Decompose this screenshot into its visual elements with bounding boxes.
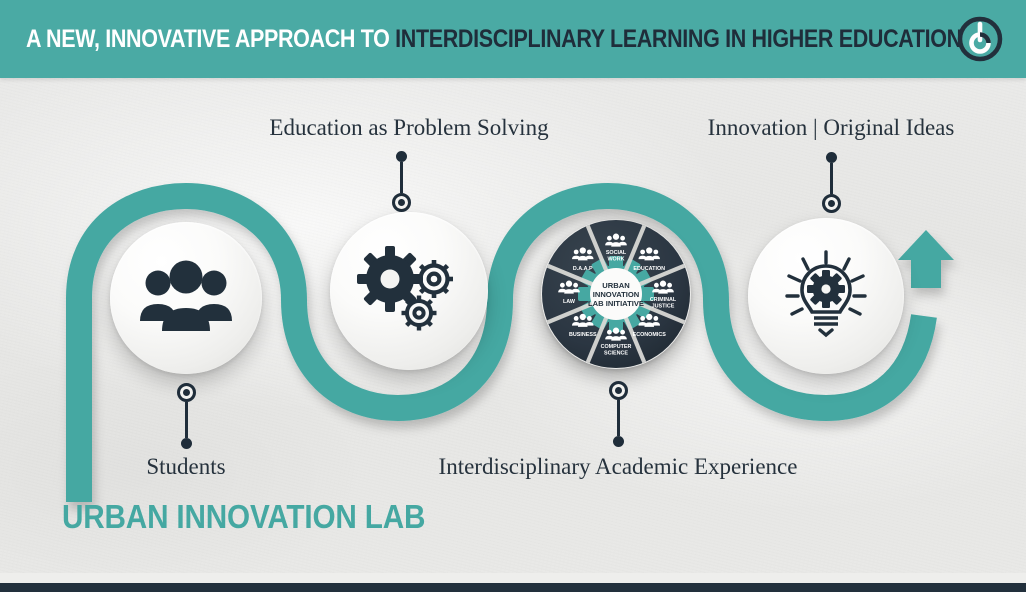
connector-wheel [609,381,628,447]
wheel-center-line: LAB INITIATIVE [588,299,644,308]
wheel-segment-label: EDUCATION [633,266,665,272]
wheel-segment-label: SOCIAL [606,250,627,256]
wheel-center-line: URBAN [602,281,629,290]
node-students[interactable] [110,222,262,374]
page-title: A NEW, INNOVATIVE APPROACH TO INTERDISCI… [26,27,962,52]
wheel-segment-label: D.A.A.P [573,266,593,272]
header-bar: A NEW, INNOVATIVE APPROACH TO INTERDISCI… [0,0,1026,78]
connector-innovation [822,152,841,213]
wheel-segment-label: ECONOMICS [633,332,667,338]
caption-education: Education as Problem Solving [209,115,609,141]
connector-line [400,162,403,193]
connector-ring [609,381,628,400]
connector-dot [613,436,624,447]
caption-students: Students [110,454,262,480]
connector-line [830,163,833,194]
connector-students [177,383,196,449]
page-title-dark: INTERDISCIPLINARY LEARNING IN HIGHER EDU… [395,25,962,53]
footer-wordmark: URBAN INNOVATION LAB [62,498,425,536]
footer-divider [0,573,1026,583]
connector-ring [822,194,841,213]
wheel-center-line: INNOVATION [593,290,640,299]
connector-ring [177,383,196,402]
wheel-segment-label: COMPUTER [601,344,632,350]
wheel-segment-label: LAW [563,299,576,305]
page-title-light: A NEW, INNOVATIVE APPROACH TO [26,25,395,53]
caption-wheel: Interdisciplinary Academic Experience [418,454,818,480]
lightbulb-gear-icon [776,248,876,344]
wheel-segment-label: SCIENCE [604,350,628,356]
wheel-segment-label: WORK [607,256,624,262]
brand-b-logo[interactable] [956,15,1004,63]
infographic-canvas: SOCIALWORKEDUCATIONCRIMINALJUSTICEECONOM… [0,0,1026,592]
node-innovation-original-ideas[interactable] [748,218,904,374]
connector-dot [396,151,407,162]
people-group-icon [136,259,236,337]
connector-dot [826,152,837,163]
connector-line [617,400,620,436]
caption-innovation: Innovation | Original Ideas [676,115,986,141]
gears-icon [357,243,461,339]
node-education-as-problem-solving[interactable] [330,212,488,370]
footer-bar [0,583,1026,592]
wheel-segment-label: CRIMINAL [650,297,677,303]
connector-line [185,402,188,438]
wheel-segment-label: JUSTICE [652,303,675,309]
node-interdisciplinary-wheel[interactable]: SOCIALWORKEDUCATIONCRIMINALJUSTICEECONOM… [541,219,691,369]
connector-education [392,151,411,212]
connector-dot [181,438,192,449]
wheel-segment-label: BUSINESS [569,332,597,338]
connector-ring [392,193,411,212]
